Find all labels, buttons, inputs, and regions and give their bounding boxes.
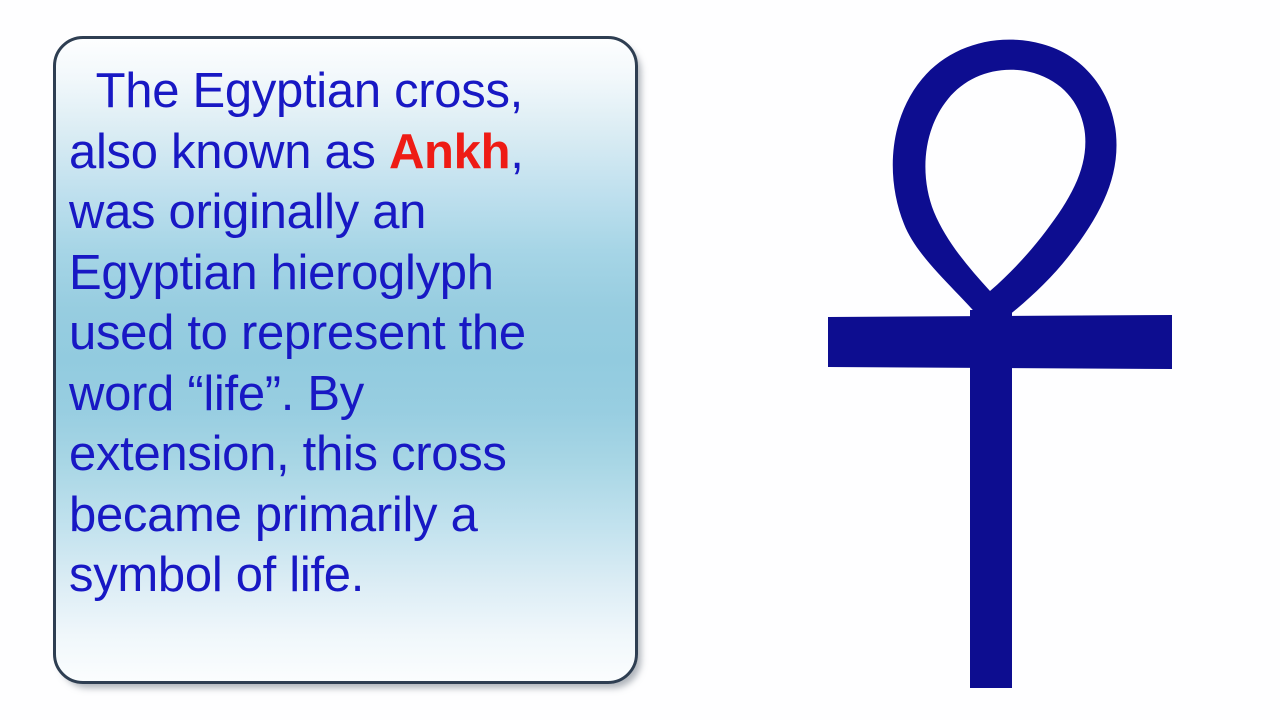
ankh-stem-icon	[970, 310, 1012, 688]
ankh-symbol	[800, 10, 1200, 710]
ankh-glyph-group	[828, 40, 1172, 688]
card-text-after-highlight: , was originally an Egyptian hieroglyph …	[69, 125, 526, 603]
slide-canvas: The Egyptian cross, also known as Ankh, …	[0, 0, 1280, 720]
ankh-loop-icon	[893, 40, 1117, 330]
highlight-word-ankh: Ankh	[389, 125, 510, 179]
card-body-text: The Egyptian cross, also known as Ankh, …	[69, 61, 625, 606]
info-card: The Egyptian cross, also known as Ankh, …	[53, 36, 638, 684]
